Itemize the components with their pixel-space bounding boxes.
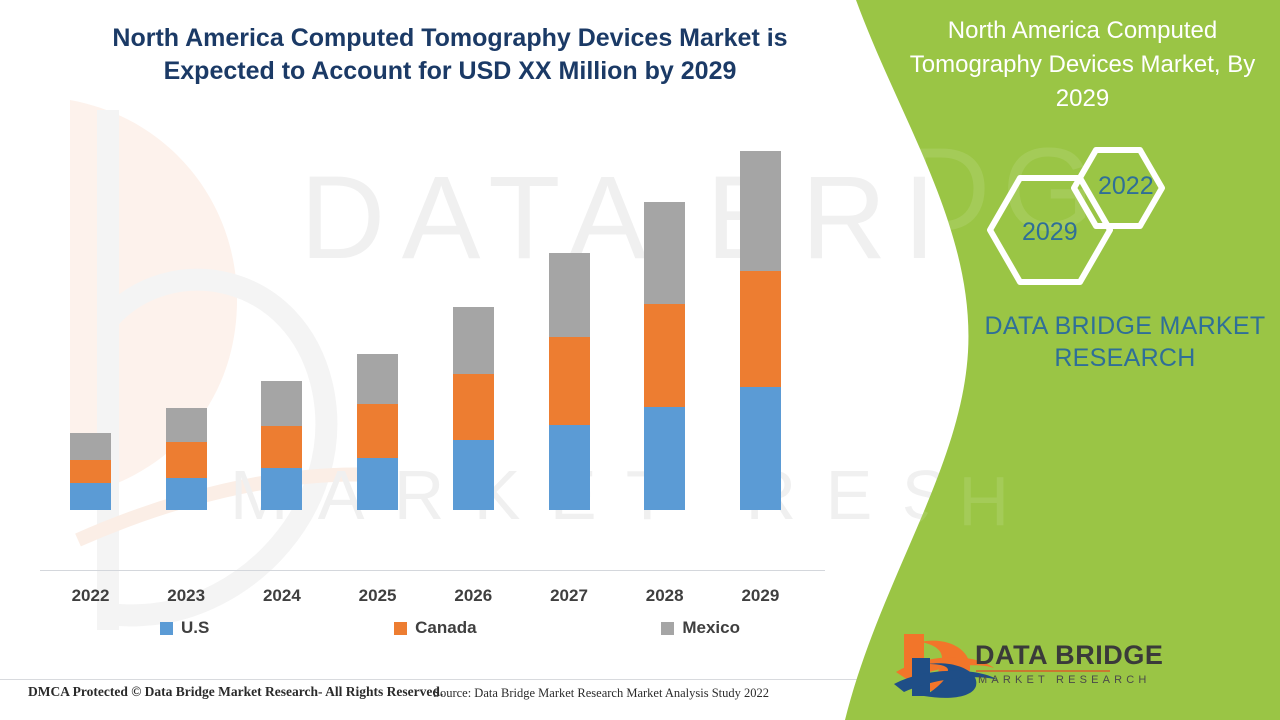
x-axis-line: [40, 570, 825, 571]
bar-segment-mexico-2022: [70, 433, 111, 460]
bar-2023: [166, 408, 207, 510]
hexagon-label-2022: 2022: [1098, 172, 1154, 201]
legend-item-canada: Canada: [394, 618, 476, 638]
bar-2028: [644, 202, 685, 510]
bar-segment-mexico-2025: [357, 354, 398, 404]
bar-2022: [70, 433, 111, 510]
bar-segment-us-2028: [644, 407, 685, 510]
chart-legend: U.SCanadaMexico: [160, 618, 740, 638]
x-axis-label-2022: 2022: [51, 586, 131, 606]
panel-title: North America Computed Tomography Device…: [905, 14, 1260, 116]
footer-copyright: DMCA Protected © Data Bridge Market Rese…: [28, 684, 443, 700]
x-axis-label-2025: 2025: [338, 586, 418, 606]
bar-segment-us-2027: [549, 425, 590, 510]
bar-segment-mexico-2027: [549, 253, 590, 337]
bar-segment-canada-2029: [740, 271, 781, 387]
bar-segment-mexico-2028: [644, 202, 685, 304]
bar-segment-canada-2022: [70, 460, 111, 483]
bar-segment-canada-2023: [166, 442, 207, 478]
svg-text:CH: CH: [880, 462, 1037, 540]
bar-segment-us-2022: [70, 483, 111, 510]
legend-label: Canada: [415, 618, 476, 638]
x-axis-label-2024: 2024: [242, 586, 322, 606]
brand-name: DATA BRIDGE MARKET RESEARCH: [980, 310, 1270, 374]
x-axis-label-2027: 2027: [529, 586, 609, 606]
bar-2026: [453, 307, 494, 510]
legend-swatch-icon: [661, 622, 674, 635]
legend-item-us: U.S: [160, 618, 209, 638]
x-axis-label-2023: 2023: [146, 586, 226, 606]
bar-segment-mexico-2024: [261, 381, 302, 426]
bar-2029: [740, 151, 781, 510]
bar-segment-us-2026: [453, 440, 494, 510]
logo-subtext: MARKET RESEARCH: [978, 674, 1151, 686]
bar-segment-canada-2025: [357, 404, 398, 458]
bar-segment-us-2024: [261, 468, 302, 510]
bar-segment-us-2025: [357, 458, 398, 510]
bar-2025: [357, 354, 398, 510]
footer-divider: [0, 679, 860, 680]
bar-2027: [549, 253, 590, 510]
bar-2024: [261, 381, 302, 510]
legend-swatch-icon: [394, 622, 407, 635]
legend-item-mexico: Mexico: [661, 618, 740, 638]
legend-swatch-icon: [160, 622, 173, 635]
bar-segment-mexico-2029: [740, 151, 781, 271]
bar-segment-us-2029: [740, 387, 781, 510]
logo-underline: [976, 670, 1110, 672]
bar-segment-canada-2024: [261, 426, 302, 468]
x-axis-label-2029: 2029: [720, 586, 800, 606]
x-axis-label-2028: 2028: [625, 586, 705, 606]
bar-segment-mexico-2026: [453, 307, 494, 374]
chart-plot-area: 20222023202420252026202720282029: [0, 0, 860, 660]
infographic-slide: DATA BRIDGE MARKET RESEARCH North Americ…: [0, 0, 1280, 720]
bar-segment-us-2023: [166, 478, 207, 510]
footer-source: Source: Data Bridge Market Research Mark…: [433, 686, 769, 701]
x-axis-label-2026: 2026: [433, 586, 513, 606]
bar-segment-canada-2027: [549, 337, 590, 425]
legend-label: Mexico: [682, 618, 740, 638]
bar-segment-canada-2026: [453, 374, 494, 440]
logo-wordmark: DATA BRIDGE: [975, 640, 1163, 671]
legend-label: U.S: [181, 618, 209, 638]
hexagon-label-2029: 2029: [1022, 218, 1078, 247]
bar-segment-canada-2028: [644, 304, 685, 407]
bar-segment-mexico-2023: [166, 408, 207, 442]
